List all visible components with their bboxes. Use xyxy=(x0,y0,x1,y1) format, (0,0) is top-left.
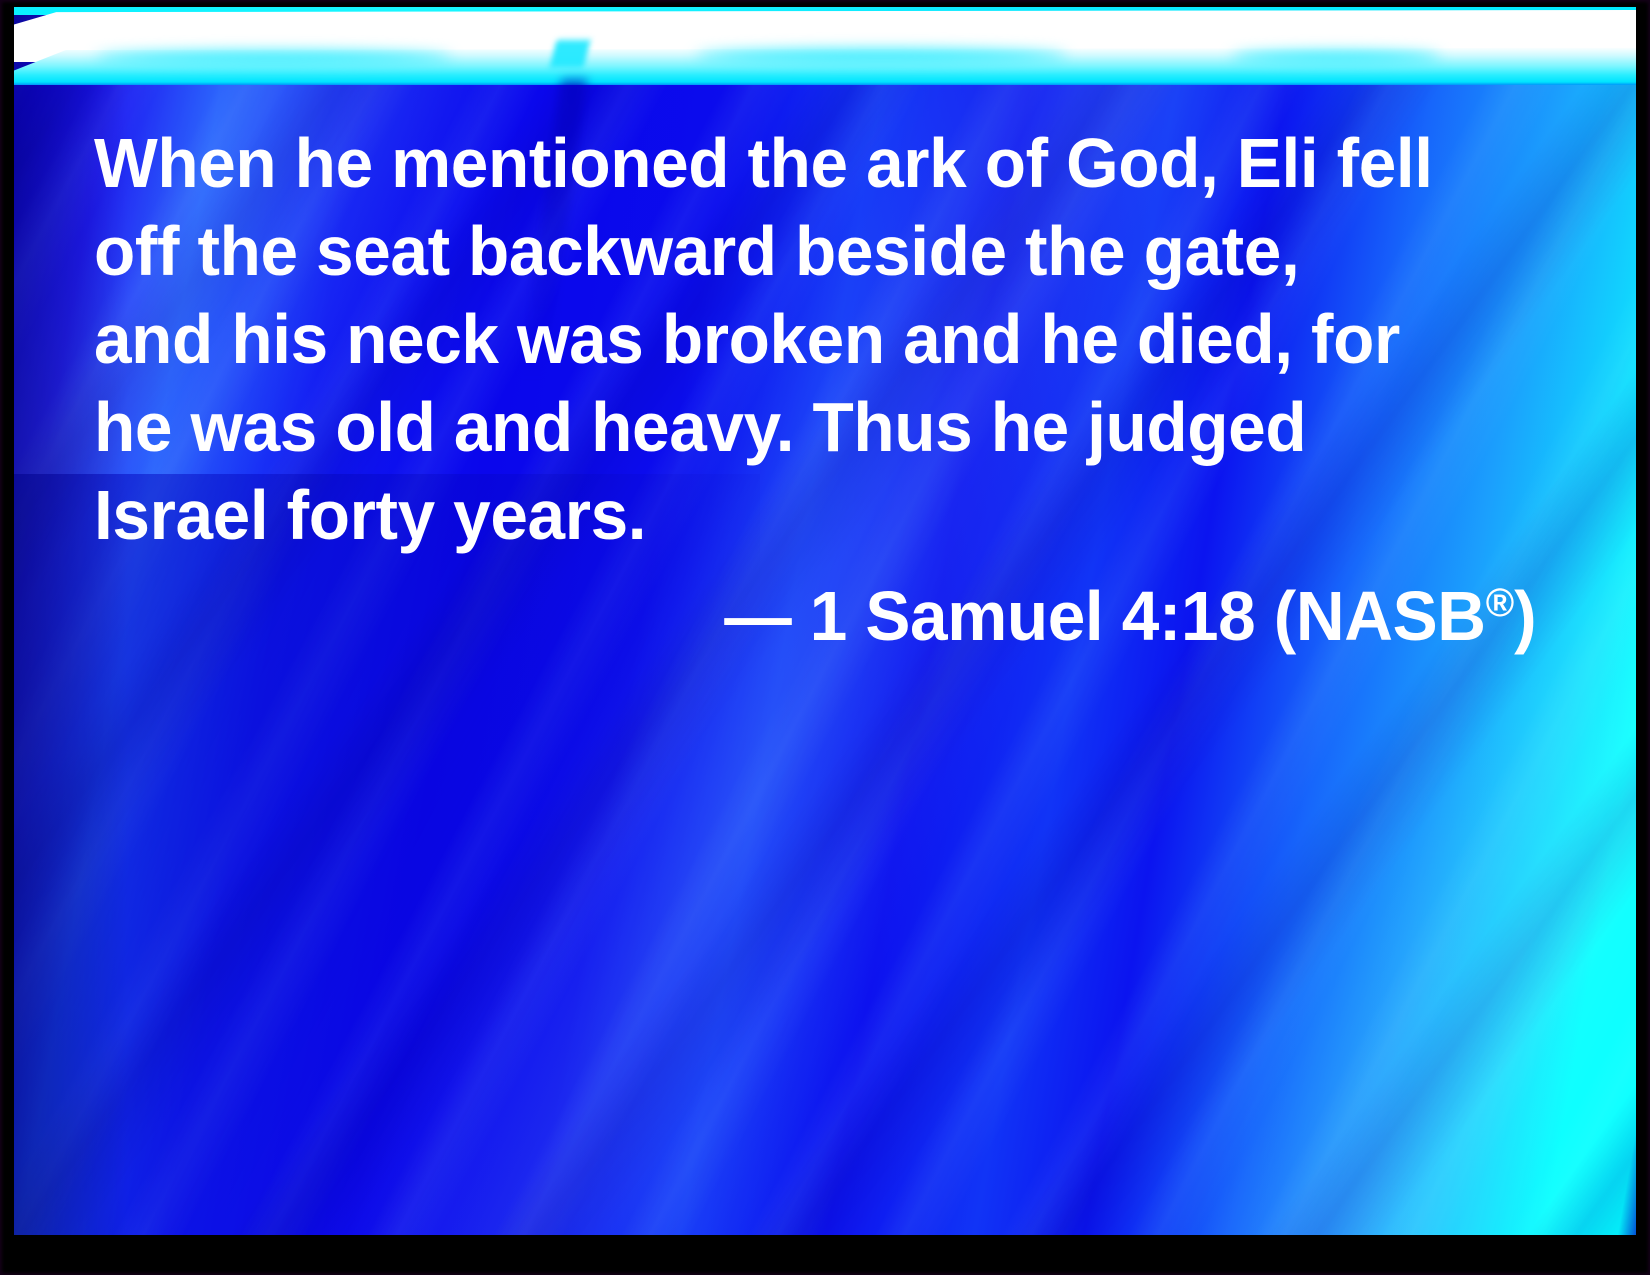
verse-line-2: off the seat backward beside the gate, xyxy=(94,207,1493,295)
header-band xyxy=(14,7,1636,87)
slide-stage: When he mentioned the ark of God, Eli fe… xyxy=(14,7,1636,1235)
verse-citation: — 1 Samuel 4:18 (NASB®) xyxy=(145,559,1544,660)
header-cyan-blob xyxy=(695,49,1068,63)
registered-trademark-icon: ® xyxy=(1486,581,1514,625)
verse-line-1: When he mentioned the ark of God, Eli fe… xyxy=(94,119,1493,207)
citation-prefix: — 1 Samuel 4:18 (NASB xyxy=(724,577,1485,655)
verse-text-block: When he mentioned the ark of God, Eli fe… xyxy=(94,119,1544,660)
citation-suffix: ) xyxy=(1514,577,1536,655)
verse-line-3: and his neck was broken and he died, for xyxy=(94,295,1493,383)
header-cyan-blob xyxy=(95,51,452,64)
verse-slide: When he mentioned the ark of God, Eli fe… xyxy=(0,0,1650,1275)
header-cyan-blob xyxy=(1231,51,1442,63)
verse-line-5: Israel forty years. xyxy=(94,471,1493,559)
verse-line-4: he was old and heavy. Thus he judged xyxy=(94,383,1493,471)
header-cyan-notch xyxy=(549,40,590,68)
